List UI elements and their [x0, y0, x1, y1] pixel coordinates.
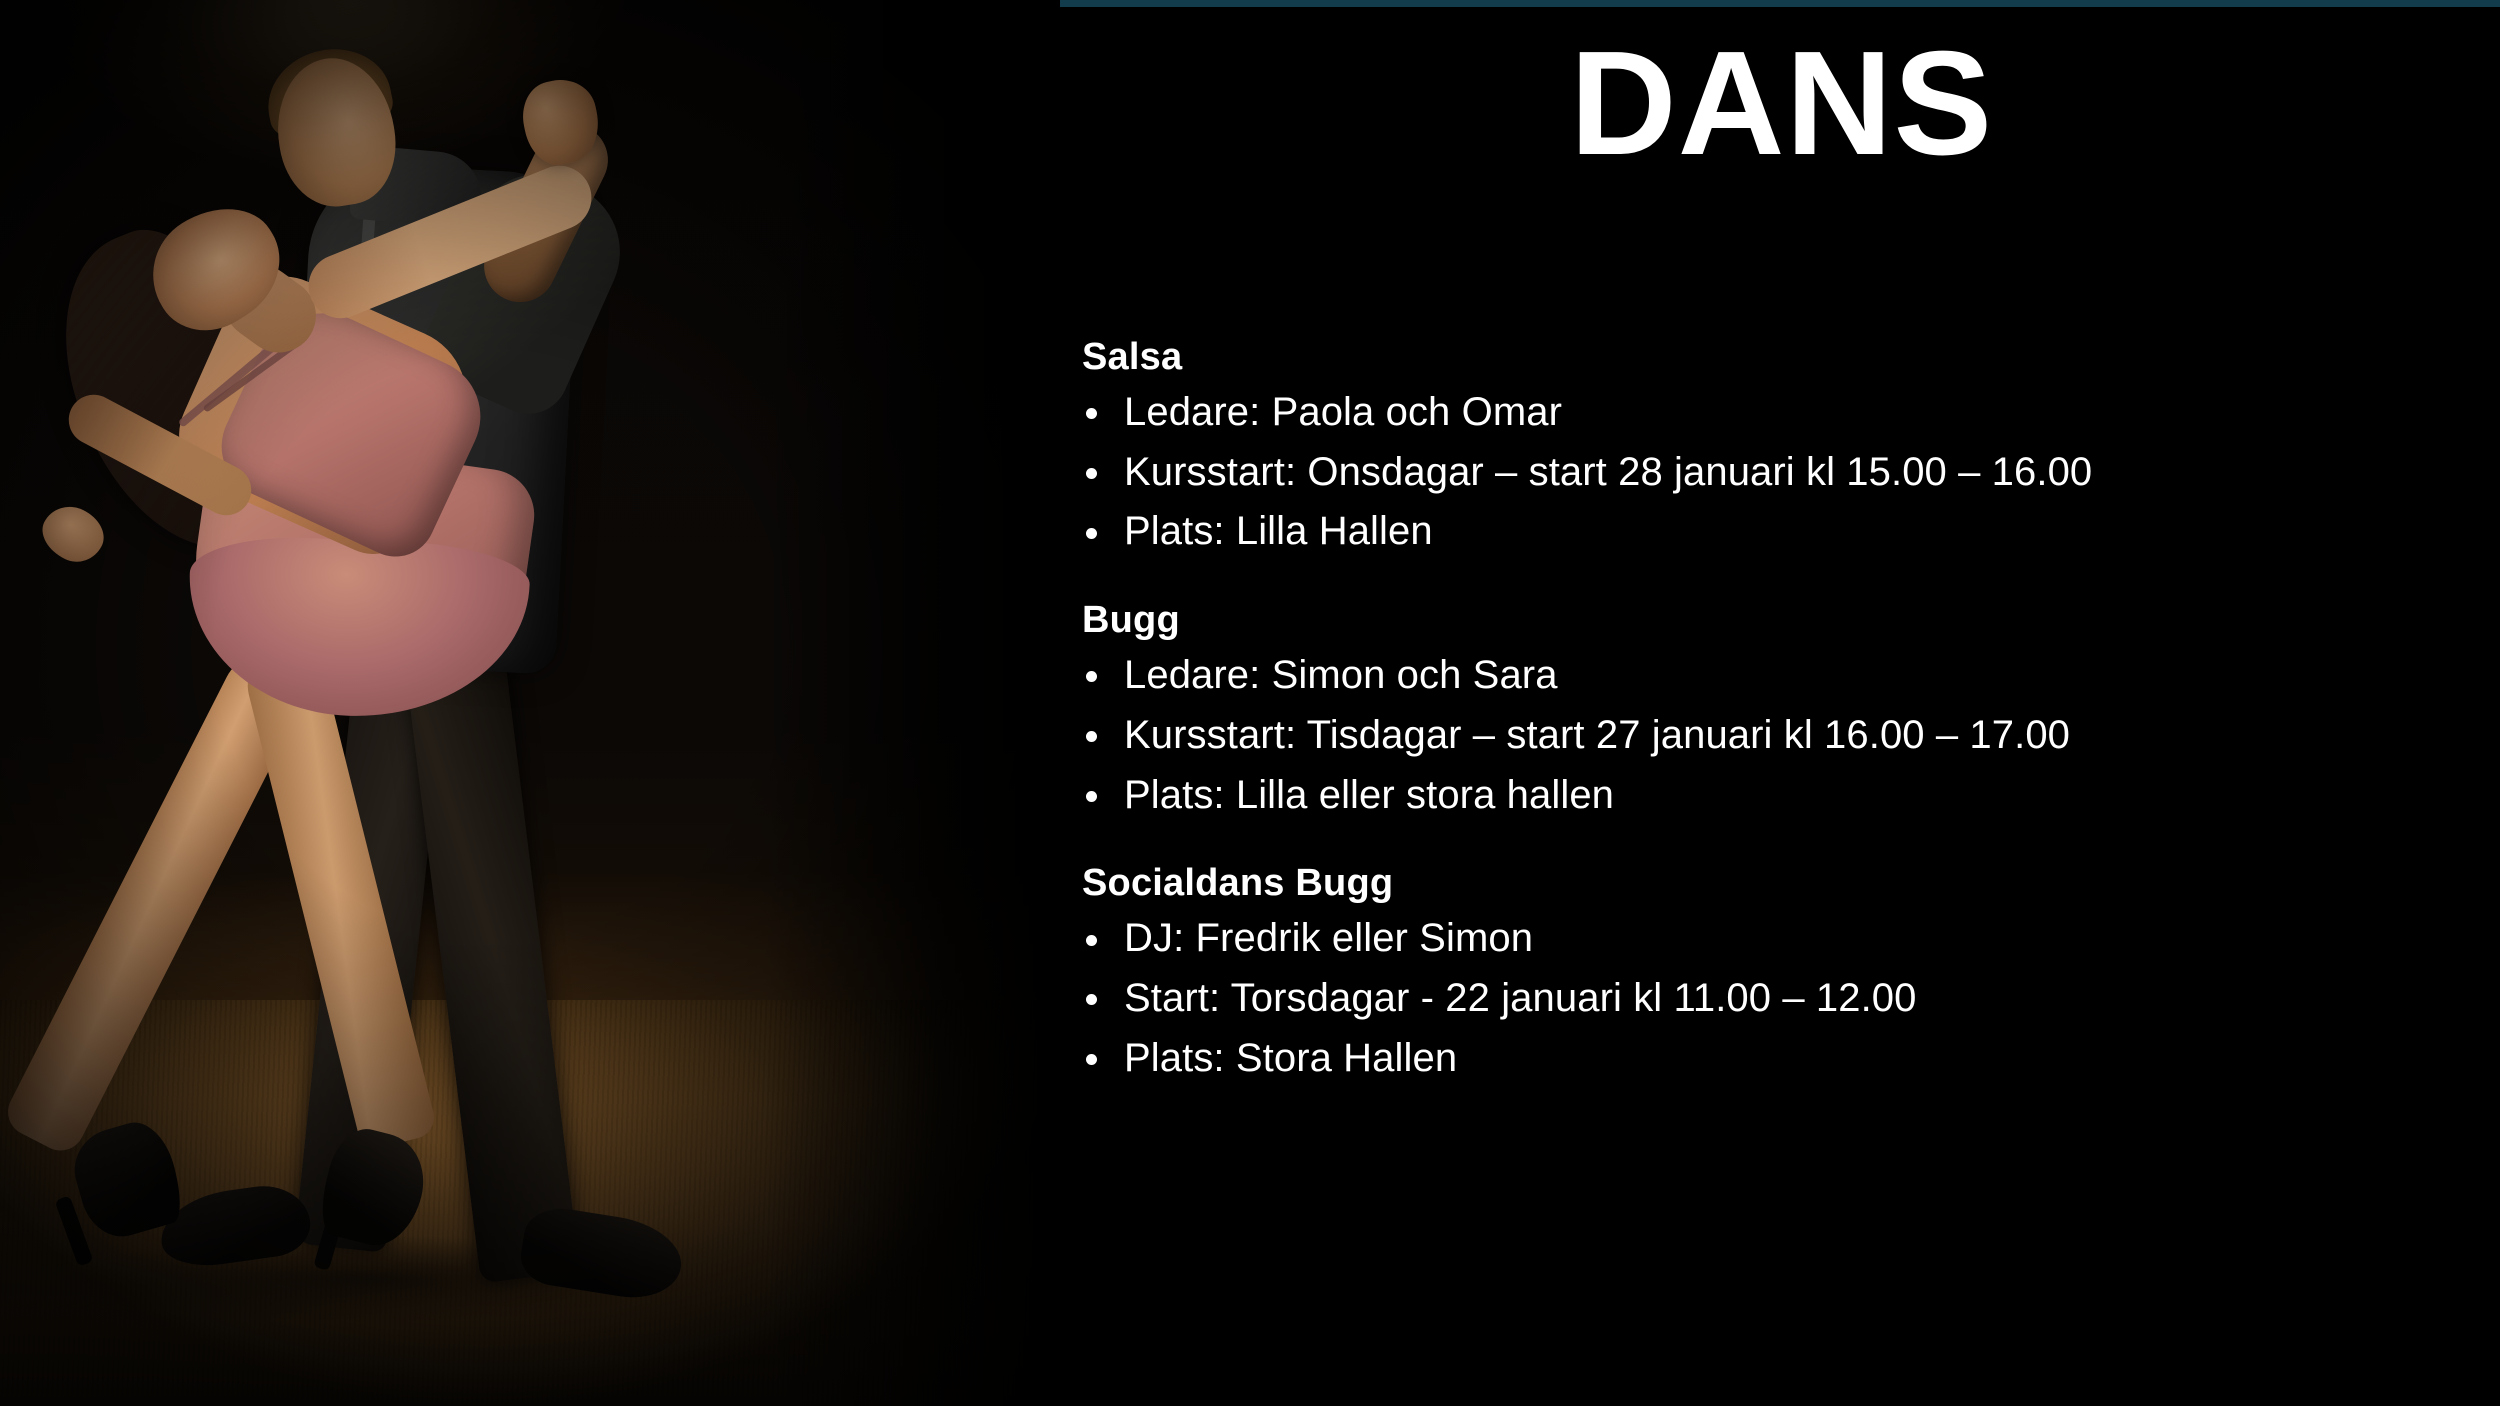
section-heading: Salsa [1082, 335, 2482, 380]
course-section: Bugg Ledare: Simon och Sara Kursstart: T… [1082, 598, 2482, 817]
list-item: Kursstart: Tisdagar – start 27 januari k… [1082, 713, 2482, 758]
list-item-text: Plats: Stora Hallen [1124, 1036, 1457, 1080]
list-item-text: Ledare: Simon och Sara [1124, 653, 1558, 697]
page-title: DANS [1063, 30, 2500, 178]
bullet-dot-icon [1086, 468, 1097, 479]
list-item: Ledare: Paola och Omar [1082, 390, 2482, 435]
bullet-dot-icon [1086, 791, 1097, 802]
list-item-text: Plats: Lilla eller stora hallen [1124, 773, 1614, 817]
course-section: Salsa Ledare: Paola och Omar Kursstart: … [1082, 335, 2482, 554]
section-bullets: Ledare: Paola och Omar Kursstart: Onsdag… [1082, 390, 2482, 554]
dancing-couple-photo [0, 0, 1063, 1406]
section-heading: Socialdans Bugg [1082, 861, 2482, 906]
section-heading: Bugg [1082, 598, 2482, 643]
list-item: Ledare: Simon och Sara [1082, 653, 2482, 698]
bullet-dot-icon [1086, 935, 1097, 946]
list-item: Start: Torsdagar - 22 januari kl 11.00 –… [1082, 976, 2482, 1021]
list-item: Kursstart: Onsdagar – start 28 januari k… [1082, 450, 2482, 495]
list-item-text: Start: Torsdagar - 22 januari kl 11.00 –… [1124, 976, 1917, 1020]
list-item: Plats: Lilla eller stora hallen [1082, 773, 2482, 818]
list-item-text: Kursstart: Tisdagar – start 27 januari k… [1124, 713, 2070, 757]
list-item: Plats: Stora Hallen [1082, 1036, 2482, 1081]
course-list: Salsa Ledare: Paola och Omar Kursstart: … [1082, 335, 2482, 1081]
bullet-dot-icon [1086, 994, 1097, 1005]
bullet-dot-icon [1086, 671, 1097, 682]
photo-edge-fade [763, 0, 1063, 1406]
section-bullets: DJ: Fredrik eller Simon Start: Torsdagar… [1082, 916, 2482, 1080]
list-item-text: Plats: Lilla Hallen [1124, 509, 1433, 553]
list-item-text: Ledare: Paola och Omar [1124, 390, 1562, 434]
section-bullets: Ledare: Simon och Sara Kursstart: Tisdag… [1082, 653, 2482, 817]
list-item: Plats: Lilla Hallen [1082, 509, 2482, 554]
bullet-dot-icon [1086, 1054, 1097, 1065]
slide-root: DANS Salsa Ledare: Paola och Omar Kursst… [0, 0, 2500, 1406]
list-item-text: DJ: Fredrik eller Simon [1124, 916, 1533, 960]
list-item: DJ: Fredrik eller Simon [1082, 916, 2482, 961]
female-dancer-trailing-hand [34, 497, 113, 571]
course-section: Socialdans Bugg DJ: Fredrik eller Simon … [1082, 861, 2482, 1080]
accent-top-stripe [1060, 0, 2500, 7]
bullet-dot-icon [1086, 408, 1097, 419]
list-item-text: Kursstart: Onsdagar – start 28 januari k… [1124, 450, 2092, 494]
bullet-dot-icon [1086, 731, 1097, 742]
bullet-dot-icon [1086, 528, 1097, 539]
